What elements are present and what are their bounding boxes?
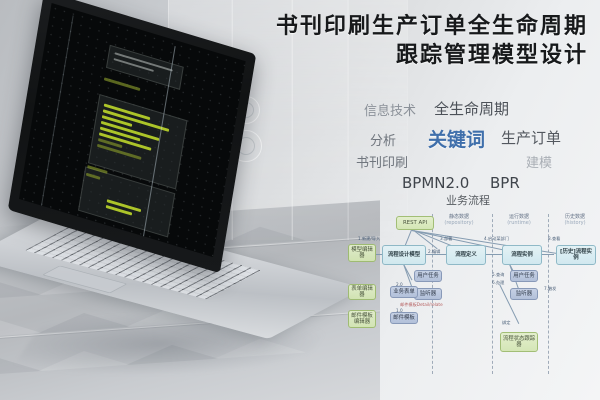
edge-label: 6.办理: [492, 280, 504, 286]
column-header-runtime-en: (runtime): [496, 220, 542, 226]
node-process-definition[interactable]: 流程定义: [446, 245, 486, 265]
node-label: 邮件模板: [393, 315, 415, 321]
node-history-process-instance[interactable]: [历史]流程实例: [556, 245, 596, 265]
edge-label: 2.0: [396, 282, 403, 287]
laptop-screen: [19, 3, 246, 257]
node-label: REST API: [403, 220, 427, 226]
node-label: 流程实例: [511, 252, 533, 258]
edge-label: 2.编辑: [428, 249, 440, 255]
edge-label: 4.启动某部门: [484, 236, 509, 242]
cloud-term-shukanyinshua: 书刊印刷: [356, 152, 408, 171]
edge-label: 1.0: [396, 308, 403, 313]
architecture-diagram: 业务流程 静态数据 (repository) 运行数据 (runtime) 历史…: [352, 192, 600, 382]
node-business-form[interactable]: 业务表单: [390, 286, 418, 298]
column-header-repository: 静态数据 (repository): [436, 214, 482, 227]
title-line-2: 跟踪管理模型设计: [276, 41, 588, 70]
node-label: 业务表单: [393, 289, 415, 295]
edge-label: 邮件模板Detail/relate: [400, 302, 443, 308]
edge-label: 5.查询: [492, 272, 504, 278]
node-process-instance[interactable]: 流程实例: [502, 245, 542, 265]
node-listener-design[interactable]: 监听器: [414, 288, 442, 300]
edge-label: 8.查看: [548, 236, 560, 242]
column-header-repository-en: (repository): [436, 220, 482, 226]
node-mail-template-editor[interactable]: 邮件模板编辑器: [348, 310, 376, 328]
node-label: 监听器: [516, 291, 532, 297]
node-label: 邮件模板编辑器: [350, 313, 374, 326]
cloud-term-xinxijishu: 信息技术: [364, 100, 416, 119]
cloud-term-quanshengmingzhouqi: 全生命周期: [434, 98, 509, 119]
poster-canvas: 书刊印刷生产订单全生命周期 跟踪管理模型设计 信息技术 全生命周期 分析 关键词…: [0, 0, 600, 400]
node-user-task-design[interactable]: 用户任务: [414, 270, 442, 282]
edge-label: 7.触发: [544, 286, 556, 292]
column-header-history-en: (history): [552, 220, 598, 226]
cloud-term-shengchandingdan: 生产订单: [501, 127, 561, 148]
cloud-term-bpr: BPR: [490, 174, 520, 192]
node-label: 流程状态跟踪器: [502, 336, 536, 349]
edge-label: 1.新建/导入: [358, 236, 380, 242]
title-line-1: 书刊印刷生产订单全生命周期: [276, 12, 588, 41]
node-label: 模型编辑器: [350, 247, 374, 260]
cloud-term-bpmn: BPMN2.0: [402, 174, 469, 192]
node-mail-template[interactable]: 邮件模板: [390, 312, 418, 324]
node-listener-runtime[interactable]: 监听器: [510, 288, 538, 300]
node-label: 流程设计模型: [388, 252, 420, 258]
node-process-status-tracker[interactable]: 流程状态跟踪器: [500, 332, 538, 352]
column-header-runtime: 运行数据 (runtime): [496, 214, 542, 227]
node-process-design-model[interactable]: 流程设计模型: [382, 245, 426, 265]
edge-label: 绑定: [502, 320, 510, 326]
node-user-task-runtime[interactable]: 用户任务: [510, 270, 538, 282]
poster-title: 书刊印刷生产订单全生命周期 跟踪管理模型设计: [276, 12, 588, 69]
node-label: 监听器: [420, 291, 436, 297]
edge-label: 3.部署: [440, 236, 452, 242]
node-label: 用户任务: [513, 273, 535, 279]
cloud-term-keyword: 关键词: [428, 125, 485, 152]
node-form-editor[interactable]: 表单编辑器: [348, 284, 376, 300]
node-label: 用户任务: [417, 273, 439, 279]
column-header-history: 历史数据 (history): [552, 214, 598, 227]
node-rest-api[interactable]: REST API: [396, 216, 434, 230]
cloud-term-jianmo: 建模: [526, 152, 552, 171]
cloud-term-fenxi: 分析: [370, 130, 396, 149]
node-label: 表单编辑器: [350, 286, 374, 299]
node-label: 流程定义: [455, 252, 477, 258]
node-label: [历史]流程实例: [558, 249, 594, 262]
diagram-title: 业务流程: [446, 192, 490, 208]
node-model-editor[interactable]: 模型编辑器: [348, 244, 376, 262]
